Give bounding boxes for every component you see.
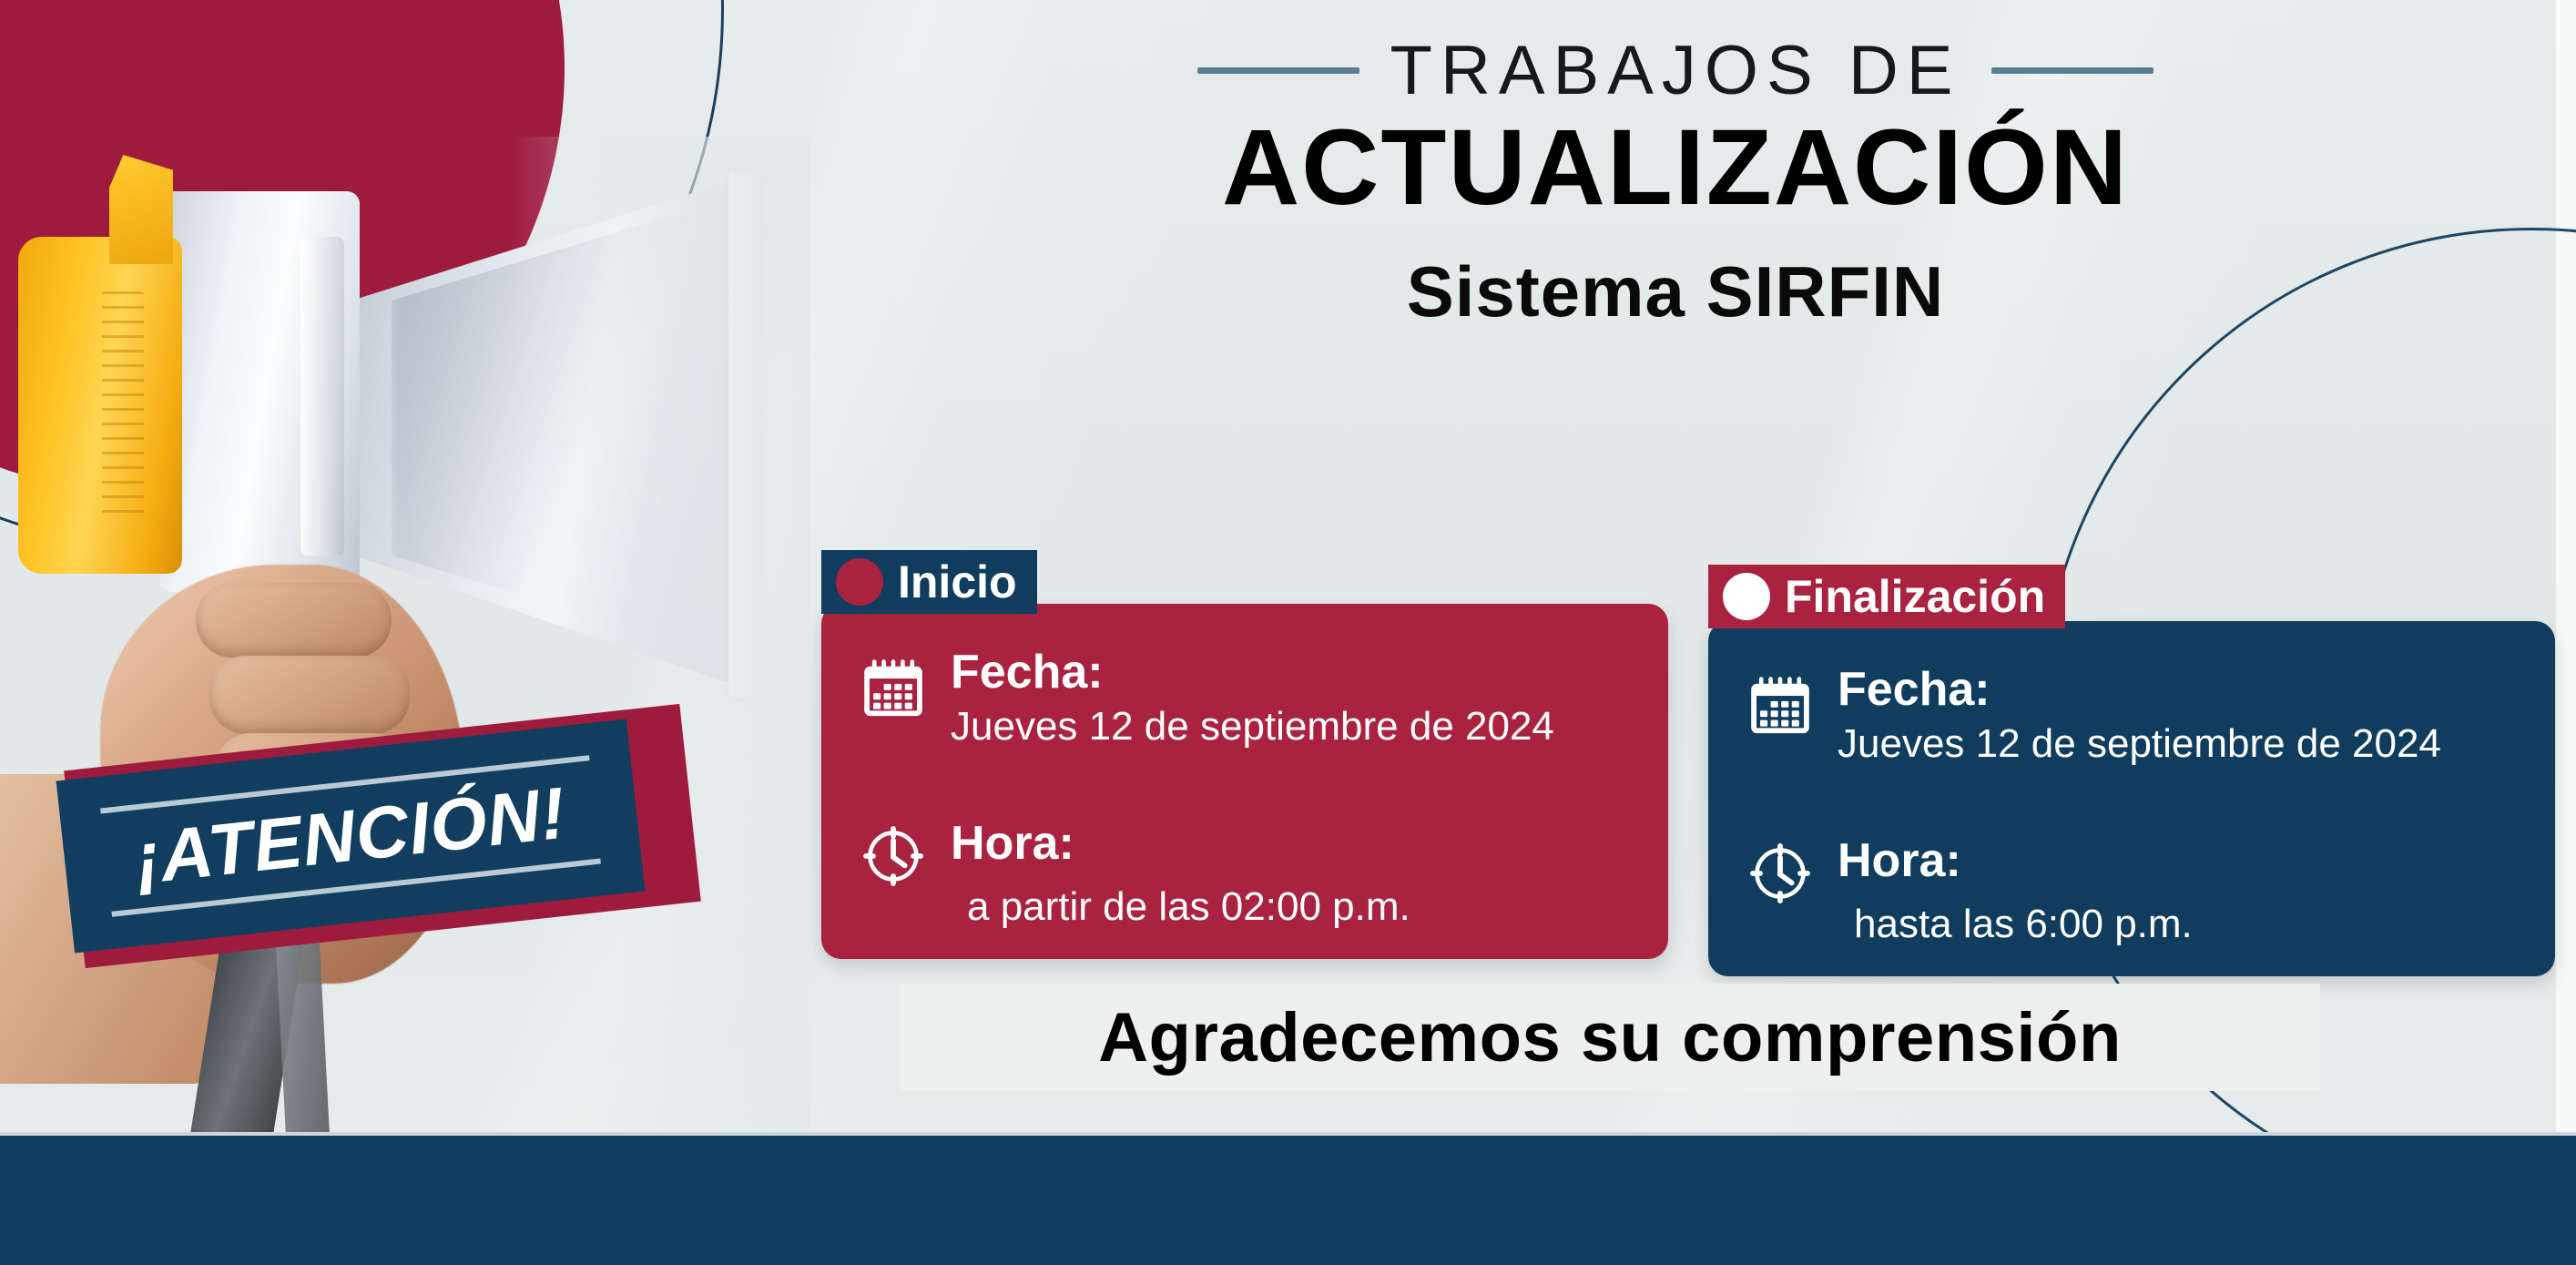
headline-kicker: TRABAJOS DE: [1390, 35, 1961, 107]
thanks-banner: Agradecemos su comprensión: [900, 984, 2320, 1091]
attention-tag-navy-plate: ¡ATENCIÓN!: [56, 719, 646, 954]
end-time-field: Hora: hasta las 6:00 p.m.: [1746, 836, 2519, 949]
kicker-row: TRABAJOS DE: [1002, 35, 2349, 107]
megaphone-yellow-body: [18, 237, 182, 574]
schedule-card-start-body: Fecha: Jueves 12 de septiembre de 2024 H…: [821, 604, 1668, 959]
start-time-field: Hora: a partir de las 02:00 p.m.: [860, 819, 1632, 932]
attention-tag-label: ¡ATENCIÓN!: [132, 777, 570, 896]
end-date-label: Fecha:: [1838, 665, 2441, 715]
kicker-rule-right: [1991, 67, 2153, 74]
megaphone-yellow-tab: [109, 155, 173, 264]
end-time-value: hasta las 6:00 p.m.: [1838, 901, 2193, 949]
schedule-card-end: Fecha: Jueves 12 de septiembre de 2024 H…: [1708, 621, 2555, 976]
clock-icon: [860, 822, 927, 890]
end-time-label: Hora:: [1838, 836, 2193, 886]
schedule-card-start: Fecha: Jueves 12 de septiembre de 2024 H…: [821, 604, 1668, 959]
end-date-field: Fecha: Jueves 12 de septiembre de 2024: [1746, 665, 2519, 769]
clock-icon: [1746, 840, 1814, 907]
schedule-card-end-body: Fecha: Jueves 12 de septiembre de 2024 H…: [1708, 621, 2555, 976]
badge-start: Inicio: [821, 550, 1037, 614]
calendar-icon: [860, 651, 927, 719]
start-time-value: a partir de las 02:00 p.m.: [951, 883, 1410, 932]
start-time-label: Hora:: [951, 819, 1410, 869]
footer-bar: [0, 1136, 2576, 1265]
announcement-banner: ¡ATENCIÓN! TRABAJOS DE ACTUALIZACIÓN Sis…: [0, 0, 2576, 1265]
calendar-icon: [1746, 668, 1814, 736]
badge-end-label: Finalización: [1785, 574, 2045, 619]
badge-end: Finalización: [1708, 565, 2065, 628]
megaphone-barrel-ring: [300, 237, 344, 556]
megaphone-horn-shading: [392, 200, 692, 656]
start-date-field: Fecha: Jueves 12 de septiembre de 2024: [860, 648, 1632, 751]
headline-title: ACTUALIZACIÓN: [1002, 111, 2349, 225]
megaphone-horn-rim: [728, 171, 759, 698]
attention-tag: ¡ATENCIÓN!: [56, 724, 712, 997]
hand-finger: [196, 583, 392, 658]
end-date-value: Jueves 12 de septiembre de 2024: [1838, 720, 2441, 769]
start-date-label: Fecha:: [951, 648, 1554, 698]
filled-circle-icon: [836, 558, 883, 606]
hand-finger: [209, 656, 410, 734]
megaphone-grip-texture: [102, 291, 144, 519]
headline-subtitle: Sistema SIRFIN: [1002, 250, 2349, 333]
thanks-message: Agradecemos su comprensión: [1098, 998, 2122, 1077]
start-date-value: Jueves 12 de septiembre de 2024: [951, 703, 1554, 751]
kicker-rule-left: [1197, 67, 1359, 74]
filled-circle-icon: [1723, 573, 1770, 620]
badge-start-label: Inicio: [898, 559, 1017, 605]
headline-block: TRABAJOS DE ACTUALIZACIÓN Sistema SIRFIN: [1002, 35, 2349, 333]
